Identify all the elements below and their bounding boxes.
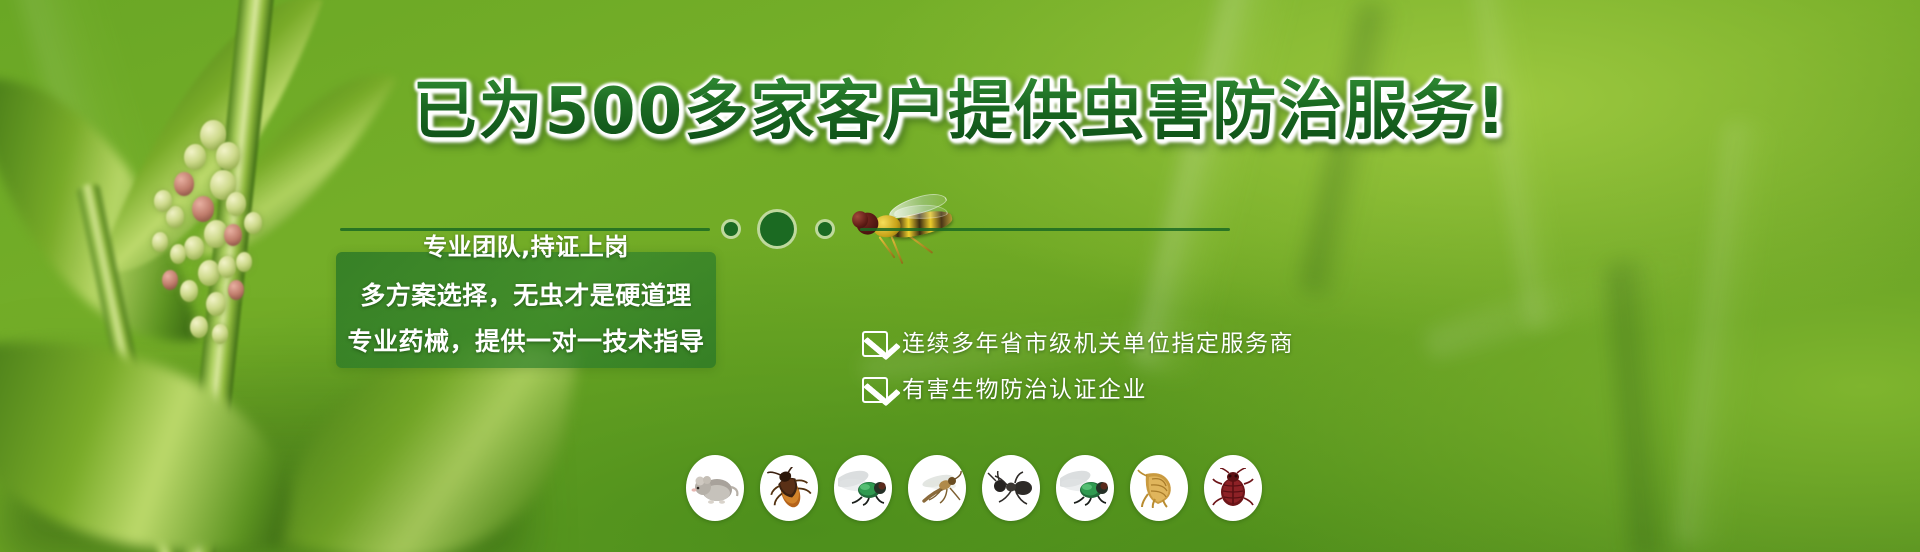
divider-dot-small-left: [724, 222, 738, 236]
feature-item: 有害生物防治认证企业: [862, 376, 1562, 404]
selling-point-line-2: 多方案选择，无虫才是硬道理: [336, 280, 716, 312]
divider-dot-large: [760, 212, 794, 246]
flower-bud: [218, 256, 236, 278]
flower-bud: [154, 190, 172, 212]
divider-dot-small-right: [818, 222, 832, 236]
banner-headline: 已为500多家客户提供虫害防治服务!: [0, 76, 1920, 148]
mosquito-icon[interactable]: [908, 455, 966, 521]
feature-label: 连续多年省市级机关单位指定服务商: [902, 330, 1294, 358]
fly-icon[interactable]: [834, 455, 892, 521]
blowfly-icon[interactable]: [1056, 455, 1114, 521]
flower-bud: [190, 316, 208, 338]
selling-points-text: 专业团队,持证上岗 多方案选择，无虫才是硬道理 专业药械，提供一对一技术指导: [336, 214, 716, 379]
decorative-divider: [0, 214, 1920, 248]
flower-bud: [198, 260, 220, 286]
feature-item: 连续多年省市级机关单位指定服务商: [862, 330, 1562, 358]
divider-line-right: [860, 228, 1230, 231]
mouse-icon[interactable]: [686, 455, 744, 521]
flower-bud: [174, 172, 194, 196]
flower-bud: [236, 252, 252, 272]
feature-list: 连续多年省市级机关单位指定服务商 有害生物防治认证企业: [862, 330, 1562, 422]
selling-point-line-1: 专业团队,持证上岗: [336, 232, 716, 262]
selling-point-line-3: 专业药械，提供一对一技术指导: [336, 326, 716, 358]
promotional-banner: 已为500多家客户提供虫害防治服务! 专业团队,持证上岗 多方案选择，无虫才是硬…: [0, 0, 1920, 552]
flower-bud: [226, 192, 246, 216]
flea-icon[interactable]: [1130, 455, 1188, 521]
cockroach-icon[interactable]: [760, 455, 818, 521]
flower-bud: [206, 292, 226, 316]
flower-bud: [212, 324, 228, 344]
flower-bud: [228, 280, 244, 300]
flower-bud: [180, 280, 198, 302]
feature-label: 有害生物防治认证企业: [902, 376, 1147, 404]
bedbug-icon[interactable]: [1204, 455, 1262, 521]
pest-icon-row: [686, 455, 1262, 521]
ant-icon[interactable]: [982, 455, 1040, 521]
flower-bud: [162, 270, 178, 290]
checkbox-checked-icon: [862, 377, 888, 403]
checkbox-checked-icon: [862, 331, 888, 357]
